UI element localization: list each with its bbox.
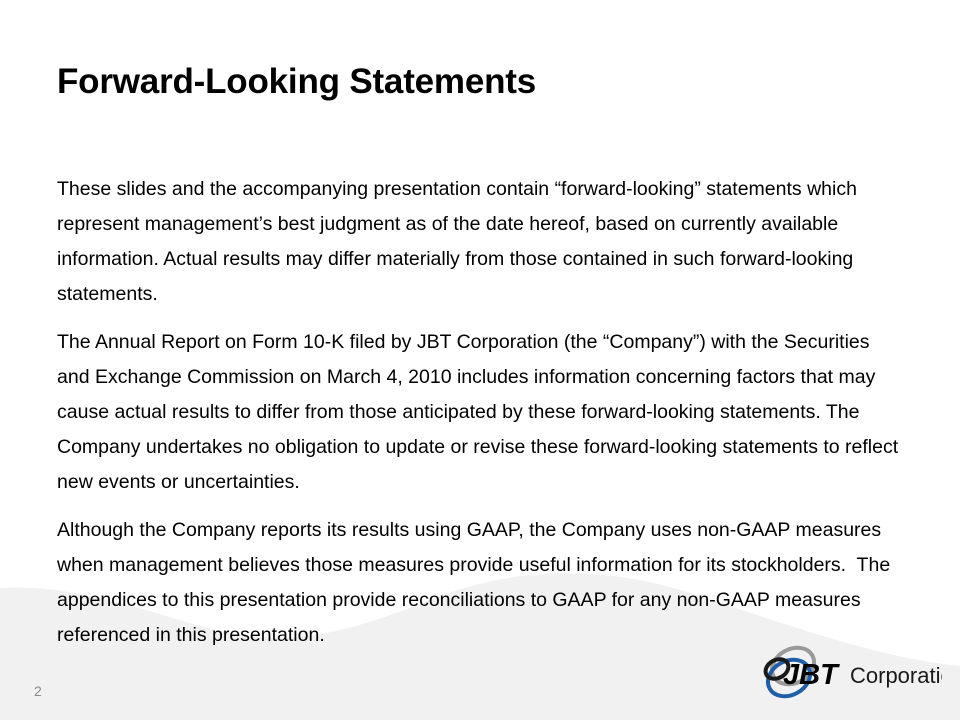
slide-canvas: Forward-Looking Statements These slides … <box>0 0 960 720</box>
brand-logo: JBT Corporation <box>757 644 942 700</box>
page-number: 2 <box>34 683 42 699</box>
page-title: Forward-Looking Statements <box>57 62 536 102</box>
paragraph-forward-looking-definition: These slides and the accompanying presen… <box>57 172 902 312</box>
logo-wordmark: JBT <box>783 659 840 691</box>
paragraph-gaap-disclosure: Although the Company reports its results… <box>57 513 902 653</box>
paragraph-annual-report-reference: The Annual Report on Form 10-K filed by … <box>57 325 902 500</box>
logo-company-suffix: Corporation <box>850 663 942 688</box>
body-text-block: These slides and the accompanying presen… <box>57 172 902 653</box>
